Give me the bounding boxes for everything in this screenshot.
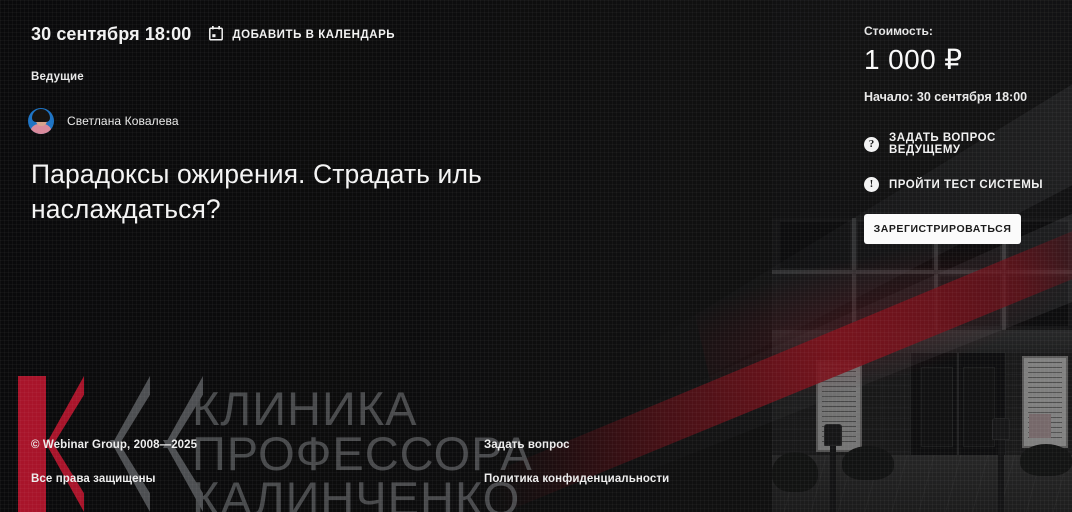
price-value: 1 000 ₽: [864, 44, 1054, 76]
event-info-sidebar: Стоимость: 1 000 ₽ Начало: 30 сентября 1…: [864, 24, 1054, 244]
exclamation-mark-circle-icon: !: [864, 177, 879, 192]
ask-host-question-label: ЗАДАТЬ ВОПРОС ВЕДУЩЕМУ: [889, 132, 1054, 156]
content-layer: 30 сентября 18:00 ДОБАВИТЬ В КАЛЕНДАРЬ В…: [0, 0, 1072, 512]
add-to-calendar-label: ДОБАВИТЬ В КАЛЕНДАРЬ: [232, 29, 395, 41]
event-date-row: 30 сентября 18:00 ДОБАВИТЬ В КАЛЕНДАРЬ: [31, 24, 395, 45]
add-to-calendar-button[interactable]: ДОБАВИТЬ В КАЛЕНДАРЬ: [209, 26, 395, 44]
privacy-policy-link[interactable]: Политика конфиденциальности: [484, 473, 669, 485]
hosts-label: Ведущие: [31, 71, 84, 83]
calendar-icon: [209, 26, 223, 44]
event-date: 30 сентября 18:00: [31, 24, 191, 45]
avatar-hair: [32, 109, 50, 122]
copyright-text: © Webinar Group, 2008—2025: [31, 439, 197, 451]
footer-left-column: © Webinar Group, 2008—2025 Все права защ…: [31, 439, 197, 485]
ask-question-link[interactable]: Задать вопрос: [484, 439, 669, 451]
question-mark-circle-icon: ?: [864, 137, 879, 152]
ask-host-question-link[interactable]: ? ЗАДАТЬ ВОПРОС ВЕДУЩЕМУ: [864, 132, 1054, 156]
page-title: Парадоксы ожирения. Страдать иль наслажд…: [31, 157, 551, 227]
cost-label: Стоимость:: [864, 24, 1054, 38]
system-test-label: ПРОЙТИ ТЕСТ СИСТЕМЫ: [889, 179, 1043, 191]
start-time-label: Начало: 30 сентября 18:00: [864, 90, 1054, 104]
register-button[interactable]: ЗАРЕГИСТРИРОВАТЬСЯ: [864, 214, 1021, 244]
rights-reserved-text: Все права защищены: [31, 473, 197, 485]
host-list-item[interactable]: Светлана Ковалева: [28, 108, 179, 134]
host-name: Светлана Ковалева: [67, 114, 179, 128]
avatar: [28, 108, 54, 134]
system-test-link[interactable]: ! ПРОЙТИ ТЕСТ СИСТЕМЫ: [864, 177, 1054, 192]
footer-right-column: Задать вопрос Политика конфиденциальност…: [484, 439, 669, 485]
webinar-landing-page: КЛИНИКА ПРОФЕССОРА КАЛИНЧЕНКО 30 сентябр…: [0, 0, 1072, 512]
